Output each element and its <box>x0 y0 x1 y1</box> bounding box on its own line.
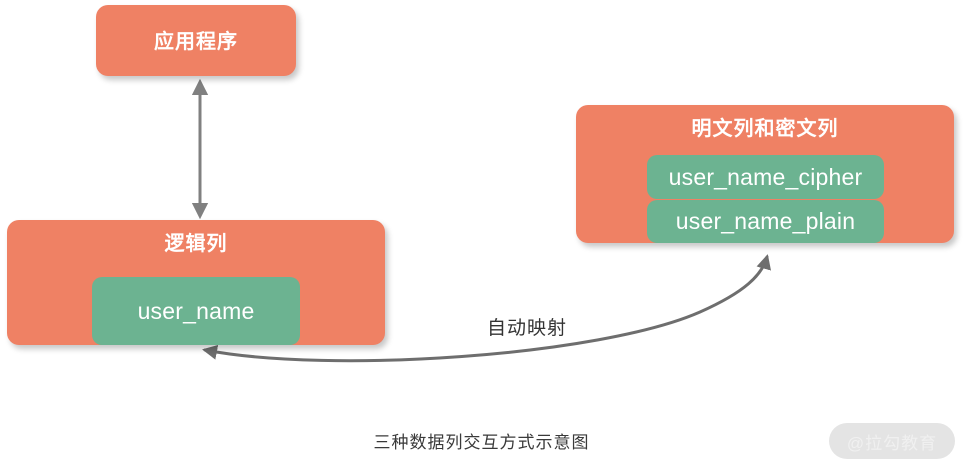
node-application-title: 应用程序 <box>96 32 296 52</box>
diagram-caption: 三种数据列交互方式示意图 <box>0 428 963 453</box>
column-chip-user-name-cipher[interactable]: user_name_cipher <box>647 155 884 199</box>
node-logical-column[interactable]: 逻辑列 user_name <box>7 220 385 345</box>
diagram-canvas: 应用程序 逻辑列 user_name 明文列和密文列 user_name_cip… <box>0 0 963 472</box>
column-chip-user-name-plain[interactable]: user_name_plain <box>647 200 884 243</box>
node-physical-columns-title: 明文列和密文列 <box>576 119 954 139</box>
edge-label-auto-mapping: 自动映射 <box>487 313 567 340</box>
watermark: @拉勾教育 <box>829 423 955 459</box>
node-application[interactable]: 应用程序 <box>96 5 296 76</box>
node-logical-column-title: 逻辑列 <box>7 234 385 254</box>
node-physical-columns[interactable]: 明文列和密文列 user_name_cipher user_name_plain <box>576 105 954 243</box>
column-chip-user-name[interactable]: user_name <box>92 277 300 345</box>
